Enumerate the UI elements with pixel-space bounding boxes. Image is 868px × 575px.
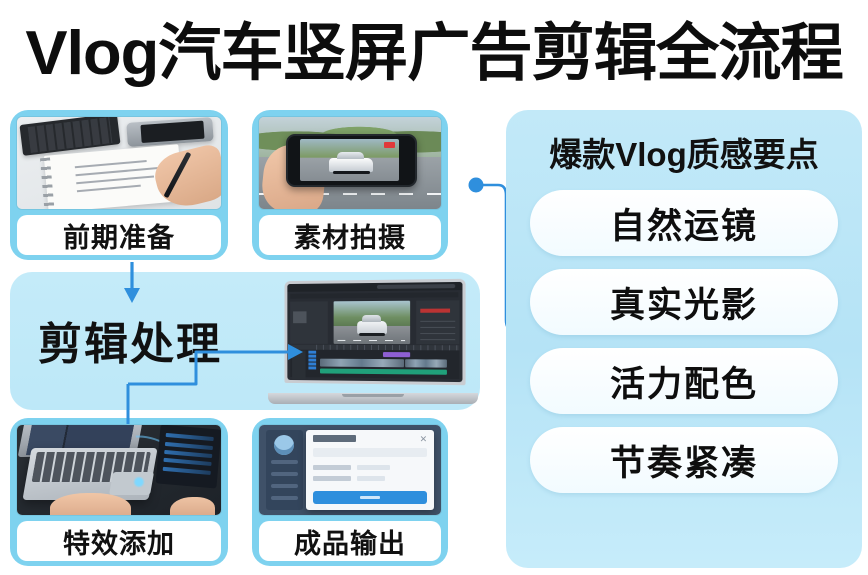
export-dialog: ✕: [306, 430, 433, 509]
laptop-video-editor-icon: [268, 280, 478, 404]
workflow-column: 剪辑处理: [6, 106, 476, 570]
step-card-shoot[interactable]: 素材拍摄: [252, 110, 448, 260]
laptop-lid: [285, 279, 466, 385]
step-card-out[interactable]: ✕ 成品输出: [252, 418, 448, 566]
prep-photo: [17, 117, 221, 209]
page-title: Vlog汽车竖屏广告剪辑全流程: [0, 4, 868, 90]
step-card-fx[interactable]: 特效添加: [10, 418, 228, 566]
step-card-prep-label: 前期准备: [17, 215, 221, 255]
close-icon[interactable]: ✕: [419, 435, 427, 443]
laptop-base: [268, 393, 478, 404]
tip-pill-2[interactable]: 真实光影: [530, 269, 838, 335]
editor-timeline: [290, 344, 459, 379]
export-confirm-button[interactable]: [313, 491, 428, 504]
edit-stage-panel: 剪辑处理: [10, 272, 480, 410]
tip-pill-3[interactable]: 活力配色: [530, 348, 838, 414]
step-card-prep[interactable]: 前期准备: [10, 110, 228, 260]
tips-panel-title: 爆款Vlog质感要点: [522, 128, 846, 176]
avatar: [274, 435, 294, 455]
step-card-fx-label: 特效添加: [17, 521, 221, 561]
edit-stage-label: 剪辑处理: [38, 308, 222, 372]
infographic-canvas: Vlog汽车竖屏广告剪辑全流程 剪辑处理: [0, 0, 868, 575]
fx-photo: [17, 425, 221, 515]
step-card-out-label: 成品输出: [259, 521, 441, 561]
tip-pill-4[interactable]: 节奏紧凑: [530, 427, 838, 493]
tip-pill-1[interactable]: 自然运镜: [530, 190, 838, 256]
editor-screen: [287, 282, 462, 382]
out-photo: ✕: [259, 425, 441, 515]
editor-preview: [333, 301, 410, 345]
step-card-shoot-label: 素材拍摄: [259, 215, 441, 255]
shoot-photo: [259, 117, 441, 209]
tips-panel: 爆款Vlog质感要点 自然运镜 真实光影 活力配色 节奏紧凑: [506, 110, 862, 568]
